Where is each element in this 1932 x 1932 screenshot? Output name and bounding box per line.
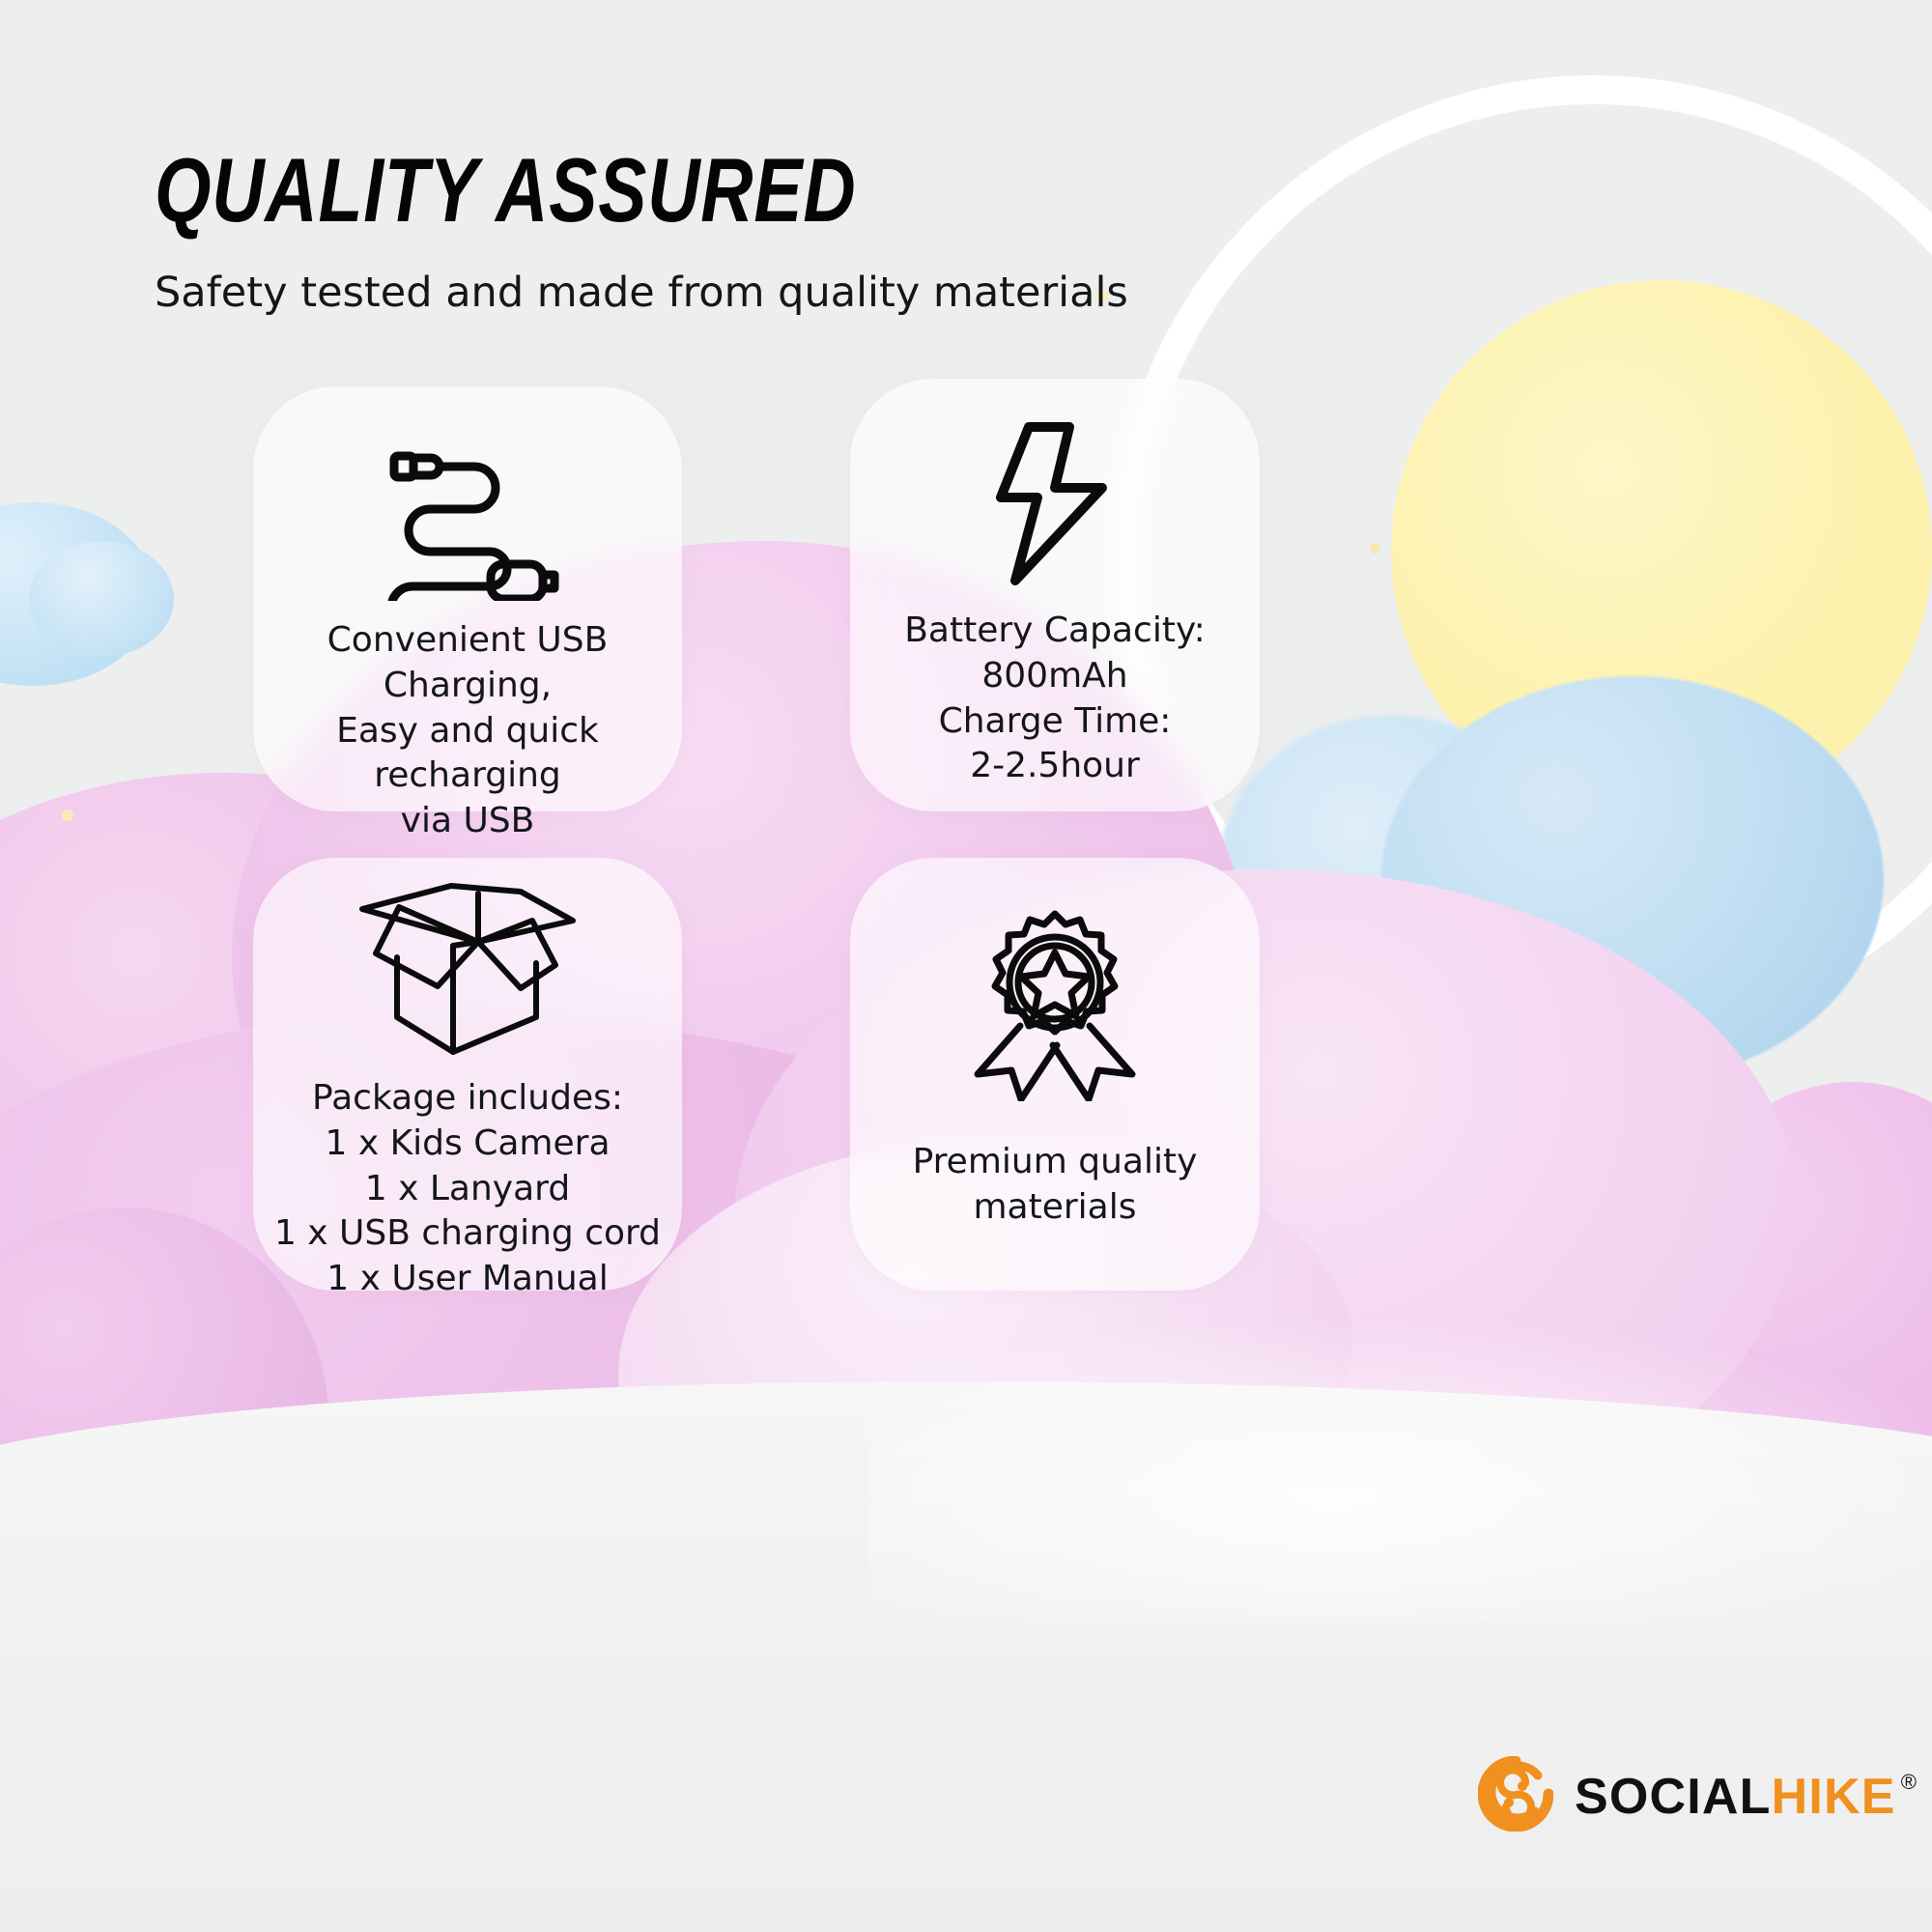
usb-cable-icon: [366, 446, 569, 601]
award-badge-icon: [968, 927, 1142, 1082]
feature-card-text: Package includes: 1 x Kids Camera 1 x La…: [267, 1076, 668, 1302]
confetti-dot: [62, 810, 73, 821]
feature-card-package: Package includes: 1 x Kids Camera 1 x La…: [253, 858, 682, 1291]
logo-word-hike: HIKE: [1772, 1768, 1896, 1826]
registered-trademark-icon: ®: [1901, 1770, 1918, 1795]
socialhike-swirl-icon: [1478, 1756, 1553, 1836]
page-subtitle: Safety tested and made from quality mate…: [155, 269, 1128, 319]
page-title: QUALITY ASSURED: [155, 145, 933, 236]
open-box-icon: [356, 896, 579, 1051]
logo-word-social: SOCIAL: [1575, 1768, 1772, 1826]
lightning-bolt-icon: [993, 429, 1117, 583]
confetti-dot: [1370, 543, 1380, 554]
feature-card-text: Battery Capacity: 800mAh Charge Time: 2-…: [896, 609, 1213, 789]
floor-highlight-shape: [869, 1314, 1932, 1623]
feature-card-battery: Battery Capacity: 800mAh Charge Time: 2-…: [850, 379, 1260, 811]
feature-card-premium-quality: Premium quality materials: [850, 858, 1260, 1291]
feature-card-text: Convenient USB Charging, Easy and quick …: [253, 618, 682, 844]
infographic-canvas: QUALITY ASSURED Safety tested and made f…: [0, 0, 1932, 1932]
socialhike-logo: SOCIALHIKE®: [1478, 1756, 1918, 1836]
feature-card-text: Premium quality materials: [905, 1140, 1206, 1231]
feature-card-usb-charging: Convenient USB Charging, Easy and quick …: [253, 386, 682, 811]
blue-blob-left-small: [29, 541, 174, 657]
header-block: QUALITY ASSURED Safety tested and made f…: [155, 145, 1128, 319]
socialhike-wordmark: SOCIALHIKE®: [1575, 1768, 1918, 1826]
